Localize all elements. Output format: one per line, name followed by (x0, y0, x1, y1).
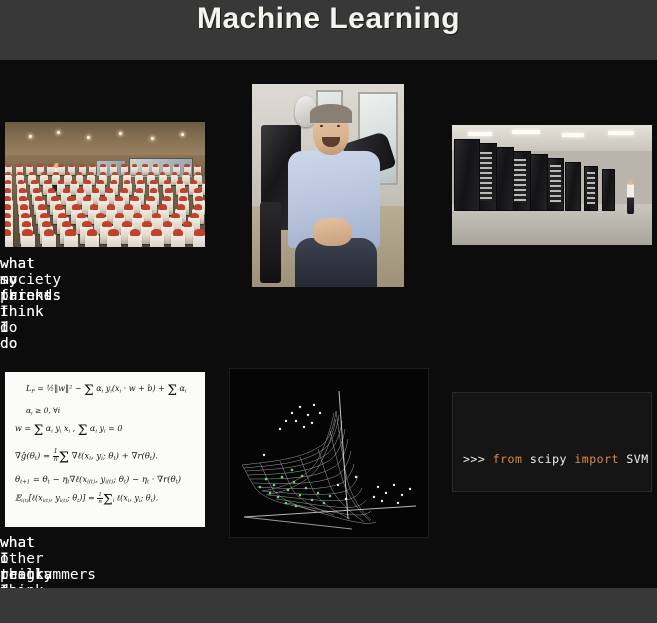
eq-text: − η (50, 475, 68, 485)
eq-text: α (177, 384, 185, 393)
eq-sigma: Σ (103, 493, 113, 509)
meme-grid: what society thinks I do (0, 60, 657, 588)
ceiling-lamp (119, 132, 122, 135)
equation-alpha-constraint: αi ≥ 0, ∀i (26, 406, 199, 416)
eq-text: i(t) (21, 498, 28, 504)
ceiling-light (608, 131, 634, 135)
eq-text: ; θ (141, 494, 151, 503)
eq-text: ). (153, 494, 159, 503)
eq-text: , y (91, 452, 101, 462)
server-rack (602, 169, 615, 211)
equation-w-expansion: w = Σ αi yi xi , Σ αi yi = 0 (15, 423, 199, 439)
eq-sigma: Σ (167, 383, 177, 399)
eq-text: ). (152, 452, 158, 462)
rack-indicator-panel (550, 165, 560, 203)
python-console-image: >>> from scipy import SVM (452, 392, 652, 492)
eq-text: α (94, 384, 102, 393)
service-robot (107, 234, 121, 247)
eq-text: t+1 (20, 479, 30, 485)
eq-sigma: Σ (59, 451, 69, 467)
eq-text: ∇ℓ(x (70, 475, 88, 485)
eq-text: · w + b) + (121, 384, 167, 393)
ceiling-lamp (57, 131, 60, 134)
service-robot (58, 166, 65, 175)
service-robot (85, 234, 99, 247)
service-robot (64, 234, 78, 247)
eq-text: ; θ (113, 475, 124, 485)
formulas-image: LP = ½‖w‖2 − Σ αi yi(xi · w + b) + Σ αi … (5, 372, 205, 527)
eq-text: )] = (79, 494, 97, 503)
service-robot (171, 234, 185, 247)
module-name: scipy (522, 452, 574, 466)
equation-gradient-estimate: ∇ĝ(θt) = 1nΣ ∇ℓ(xi, yi; θt) + ∇r(θt). (15, 449, 199, 466)
server-rack (528, 154, 548, 211)
equation-list: LP = ½‖w‖2 − Σ αi yi(xi · w + b) + Σ αi … (15, 383, 199, 516)
eq-text: ≥ 0, ∀i (33, 406, 61, 415)
eq-text: y (97, 424, 104, 433)
ceiling-light (562, 133, 584, 137)
technician (627, 184, 634, 214)
eq-text: i(t) (105, 479, 113, 485)
footer-band (0, 588, 657, 623)
eq-text: ) + ∇r(θ (116, 452, 150, 462)
equation-lagrangian: LP = ½‖w‖2 − Σ αi yi(xi · w + b) + Σ αi (26, 383, 199, 399)
eq-text: i(t) (43, 498, 50, 504)
ceiling-lamp (29, 135, 32, 138)
server-rack (565, 162, 581, 212)
eq-sigma: Σ (34, 423, 44, 439)
keyword-from: from (493, 452, 523, 466)
service-robot (150, 234, 164, 247)
console-prompt: >>> (463, 452, 493, 466)
plot-background (230, 369, 429, 538)
service-robot (42, 234, 56, 247)
page-title: Machine Learning (0, 2, 657, 36)
eq-text: , (70, 424, 78, 433)
eq-text: , y (129, 494, 139, 503)
eq-sigma: Σ (78, 423, 88, 439)
service-robot (193, 234, 206, 247)
svm-surface-svg (230, 369, 429, 538)
svm-surface-image (229, 368, 429, 538)
eq-text: w = (15, 424, 34, 433)
eq-text: ; θ (103, 452, 114, 462)
eq-text: = θ (30, 475, 48, 485)
eq-text: ) − η (126, 475, 147, 485)
society-image (5, 122, 205, 247)
man-clasped-hands (313, 218, 353, 246)
eq-text: i(t) (87, 479, 95, 485)
parents-image (452, 125, 652, 245)
server-rack (454, 139, 480, 211)
eq-text: ∇ℓ(x (69, 452, 89, 462)
eq-text: = ½‖w‖ (35, 384, 69, 393)
rack-indicator-panel (514, 159, 526, 202)
service-robot (128, 234, 142, 247)
ceiling-lamp (151, 137, 154, 140)
friends-image (252, 84, 404, 287)
eq-text: [ℓ(x (29, 494, 43, 503)
man-eye (337, 125, 340, 127)
eq-text: , y (50, 494, 60, 503)
eq-text: ℓ(x (114, 494, 128, 503)
ceiling-light (468, 132, 492, 136)
eq-text: i (185, 389, 187, 395)
eq-text: − (72, 384, 84, 393)
robot-arm (260, 202, 281, 283)
eq-text: y (53, 424, 60, 433)
eq-text: x (61, 424, 68, 433)
server-rack (584, 166, 599, 212)
man-hair (310, 104, 353, 122)
eq-text: , y (95, 475, 105, 485)
imported-symbol: SVM (619, 452, 649, 466)
eq-text: (x (112, 384, 120, 393)
eq-text: = 0 (106, 424, 123, 433)
meme-image: Machine Learning what society thinks I d… (0, 0, 657, 623)
eq-text: ∇ĝ(θ (15, 452, 35, 462)
ceiling-light (512, 130, 540, 134)
eq-text: · ∇r(θ (149, 475, 176, 485)
eq-text: ; θ (67, 494, 77, 503)
hall-ceiling (5, 122, 205, 157)
server-rack (547, 158, 565, 211)
keyword-import: import (574, 452, 619, 466)
eq-sigma: Σ (84, 383, 94, 399)
service-robot (5, 234, 13, 247)
console-code-line: >>> from scipy import SVM (463, 452, 649, 466)
man-eye (320, 125, 323, 127)
service-robot (205, 166, 206, 175)
equation-sgd-update: θt+1 = θt − ηt∇ℓ(xi(t), yi(t); θt) − ηt … (15, 474, 199, 486)
ceiling-lamp (87, 136, 90, 139)
eq-text: ) (178, 475, 181, 485)
service-robot (21, 234, 35, 247)
rack-indicator-panel (587, 172, 595, 204)
eq-text: ) = (37, 452, 53, 462)
equation-expectation: 𝔼i(t)[ℓ(xi(t), yi(t); θt)] = 1nΣi ℓ(xi, … (15, 492, 199, 508)
service-robot (202, 183, 205, 195)
